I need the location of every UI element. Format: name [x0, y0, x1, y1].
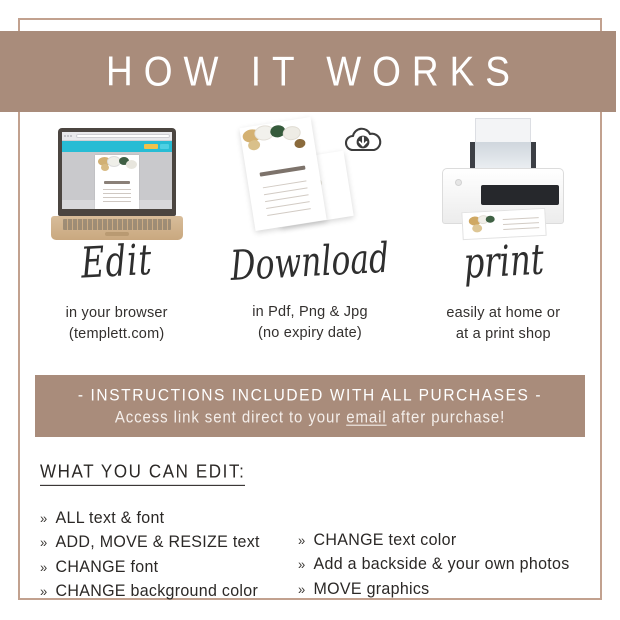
printer-power-button — [455, 179, 462, 186]
invitation-preview — [95, 155, 139, 209]
list-item: » MOVE graphics — [298, 577, 585, 602]
list-item: » Add a backside & your own photos — [298, 553, 585, 578]
instructions-sub-before: Access link sent direct to your — [115, 408, 346, 427]
list-item: » CHANGE text color — [298, 529, 585, 554]
step-caption-download: in Pdf, Png & Jpg (no expiry date) — [213, 302, 406, 344]
step-edit: Edit in your browser (templett.com) — [20, 118, 213, 353]
instructions-sub-after: after purchase! — [387, 408, 506, 427]
email-link: email — [346, 408, 386, 427]
printer-icon — [428, 118, 578, 240]
browser-chrome-icon — [62, 132, 172, 141]
step-download: Download in Pdf, Png & Jpg (no expiry da… — [213, 118, 406, 353]
step-label-download: Download — [217, 236, 403, 287]
edit-columns: » ALL text & font » ADD, MOVE & RESIZE t… — [40, 507, 585, 604]
step-label-print: print — [411, 236, 597, 288]
edit-list-left: » ALL text & font » ADD, MOVE & RESIZE t… — [40, 507, 298, 604]
chevron-right-icon: » — [298, 579, 306, 600]
step-label-edit: Edit — [24, 236, 210, 288]
chevron-right-icon: » — [298, 555, 306, 576]
invitation-card-front — [239, 117, 326, 231]
list-item-label: ADD, MOVE & RESIZE text — [56, 531, 260, 556]
list-item-label: ALL text & font — [56, 507, 165, 532]
list-item: » ALL text & font — [40, 507, 298, 532]
list-item-label: CHANGE font — [56, 555, 159, 580]
printer-illustration — [407, 118, 600, 240]
how-it-works-infographic: HOW IT WORKS — [0, 0, 620, 620]
step-caption-print: easily at home or at a print shop — [407, 303, 600, 345]
edit-heading: WHAT YOU CAN EDIT: — [40, 461, 245, 486]
step-print: print easily at home or at a print shop — [407, 118, 600, 353]
invitation-cards-icon — [235, 118, 385, 240]
laptop-illustration — [20, 118, 213, 240]
list-item: » ADD, MOVE & RESIZE text — [40, 531, 298, 556]
laptop-screen — [62, 132, 172, 209]
list-item-label: MOVE graphics — [314, 577, 430, 602]
chevron-right-icon: » — [40, 557, 48, 578]
download-cloud-icon — [343, 126, 383, 156]
browser-page-area — [62, 152, 172, 200]
list-item-label: CHANGE text color — [314, 529, 457, 554]
page-title: HOW IT WORKS — [95, 48, 521, 95]
step-caption-edit: in your browser (templett.com) — [20, 303, 213, 345]
instructions-title: - INSTRUCTIONS INCLUDED WITH ALL PURCHAS… — [78, 386, 542, 406]
chevron-right-icon: » — [40, 582, 48, 603]
chevron-right-icon: » — [40, 533, 48, 554]
list-item-label: CHANGE background color — [56, 579, 259, 604]
edit-features-section: WHAT YOU CAN EDIT: » ALL text & font » A… — [40, 462, 585, 604]
printer-output-slot — [481, 185, 559, 205]
instructions-subtitle: Access link sent direct to your email af… — [115, 408, 505, 427]
list-item: » CHANGE font — [40, 555, 298, 580]
chevron-right-icon: » — [298, 531, 306, 552]
download-illustration — [213, 118, 406, 240]
steps-row: Edit in your browser (templett.com) — [20, 118, 600, 353]
list-item: » CHANGE background color — [40, 579, 298, 604]
browser-toolbar-icon — [62, 141, 172, 152]
header-band: HOW IT WORKS — [0, 31, 616, 112]
laptop-icon — [51, 128, 183, 240]
laptop-lid — [58, 128, 176, 216]
list-item-label: Add a backside & your own photos — [314, 553, 570, 578]
edit-list-right: » CHANGE text color » Add a backside & y… — [298, 507, 585, 604]
instructions-band: - INSTRUCTIONS INCLUDED WITH ALL PURCHAS… — [35, 375, 585, 437]
chevron-right-icon: » — [40, 509, 48, 530]
